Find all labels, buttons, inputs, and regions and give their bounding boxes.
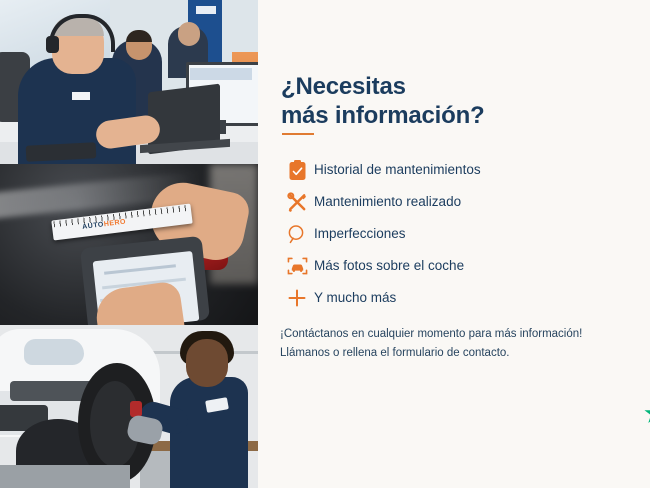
monitor-screen-content [190, 68, 252, 80]
magnifier-icon [280, 221, 314, 247]
feature-item-much-more[interactable]: Y mucho más [280, 282, 620, 314]
ruler-brand-part-1: AUTO [82, 221, 104, 231]
title-underline-rule [282, 133, 314, 135]
feature-label: Y mucho más [314, 291, 396, 305]
feature-label: Mantenimiento realizado [314, 195, 461, 209]
feature-item-more-photos[interactable]: Más fotos sobre el coche [280, 250, 620, 282]
mechanic-head [186, 339, 228, 387]
car-photo-frame-icon [280, 253, 314, 279]
tools-cross-icon [280, 189, 314, 215]
trustpilot-widget[interactable]: Trustpilot Excelente [643, 388, 650, 450]
feature-label: Imperfecciones [314, 227, 406, 241]
feature-label: Historial de mantenimientos [314, 163, 481, 177]
trustpilot-star-icon [643, 401, 650, 426]
feature-list: Historial de mantenimientos Mantenimient… [280, 154, 620, 314]
contact-line-1: ¡Contáctanos en cualquier momento para m… [280, 325, 640, 344]
content-panel: ¿Necesitas más información? Estamos enca… [258, 0, 650, 488]
headline-line-2: más información? [281, 102, 485, 129]
photo-column: AUTOHERO [0, 0, 258, 488]
contact-line-2: Llámanos o rellena el formulario de cont… [280, 344, 640, 363]
agent-headset-earcup [46, 36, 59, 53]
photo-ruler-inspection: AUTOHERO [0, 164, 258, 325]
photo-wheel-inspection [0, 325, 258, 488]
ruler-brand-part-2: HERO [103, 219, 126, 229]
contact-text: ¡Contáctanos en cualquier momento para m… [280, 325, 640, 362]
feature-label: Más fotos sobre el coche [314, 259, 464, 273]
agent-name-badge [72, 92, 90, 100]
page-title: ¿Necesitas más información? [281, 72, 521, 131]
photo-call-center [0, 0, 258, 164]
trustpilot-logo: Trustpilot [643, 401, 650, 426]
feature-item-maintenance-done[interactable]: Mantenimiento realizado [280, 186, 620, 218]
mechanic-body [170, 377, 248, 488]
poster-detail-decor [196, 6, 216, 14]
car-lift-platform [0, 465, 130, 488]
promo-banner: AUTOHERO [0, 0, 650, 488]
clipboard-check-icon [280, 157, 314, 183]
car-headlight [24, 339, 84, 365]
background-person-2-head [178, 22, 200, 46]
headline-line-1: ¿Necesitas [281, 73, 406, 100]
feature-item-maintenance-history[interactable]: Historial de mantenimientos [280, 154, 620, 186]
feature-item-imperfections[interactable]: Imperfecciones [280, 218, 620, 250]
plus-icon [280, 285, 314, 311]
